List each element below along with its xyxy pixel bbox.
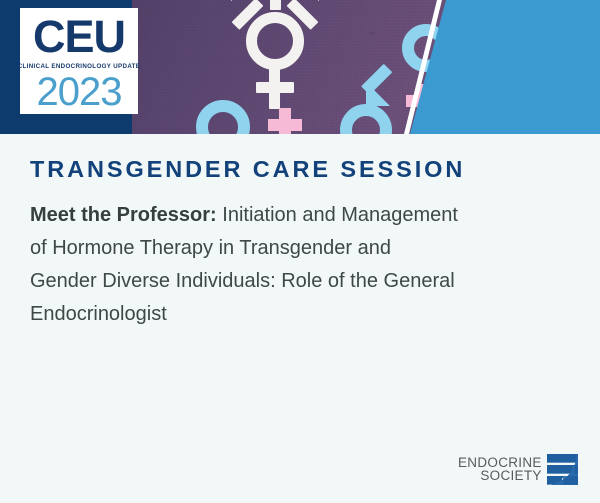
header-banner: CEU CLINICAL ENDOCRINOLOGY UPDATE 2023	[0, 0, 600, 134]
org-name-line2: SOCIETY	[458, 469, 542, 482]
endocrine-society-globe-icon	[547, 454, 578, 485]
female-cross-icon-secondary	[268, 108, 302, 134]
session-description: Meet the Professor: Initiation and Manag…	[30, 199, 460, 331]
symbol-ring	[246, 12, 304, 70]
ceu-brand-text: CEU	[33, 14, 125, 59]
content-area: TRANSGENDER CARE SESSION Meet the Profes…	[0, 134, 600, 331]
endocrine-society-logo: ENDOCRINE SOCIETY	[458, 452, 578, 486]
session-title: TRANSGENDER CARE SESSION	[30, 156, 600, 183]
symbol-arrow-right-head	[308, 0, 331, 1]
symbol-cross-bar	[256, 82, 294, 93]
ceu-tagline: CLINICAL ENDOCRINOLOGY UPDATE	[18, 63, 141, 70]
symbol-arrow-center	[270, 0, 281, 10]
symbol-arrow-left-head	[220, 0, 243, 1]
ceu-logo: CEU CLINICAL ENDOCRINOLOGY UPDATE 2023	[20, 8, 138, 114]
endocrine-society-wordmark: ENDOCRINE SOCIETY	[458, 456, 542, 482]
description-lead: Meet the Professor:	[30, 204, 217, 226]
ceu-year: 2023	[37, 72, 122, 112]
